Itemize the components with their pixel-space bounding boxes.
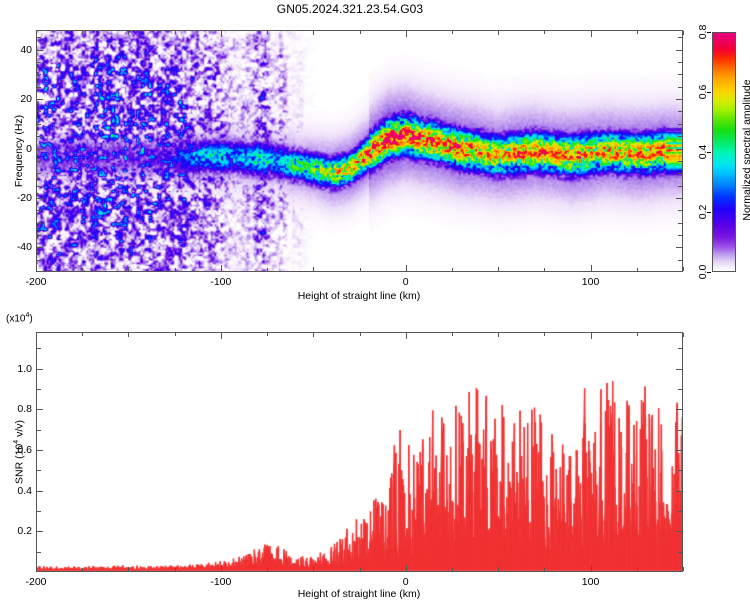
x-axis-minor-tick <box>267 568 268 571</box>
x-axis-minor-tick <box>267 268 268 271</box>
x-axis-tick-top <box>406 333 407 339</box>
y-axis-tick-label: 40 <box>6 44 32 56</box>
x-axis-tick <box>498 567 499 571</box>
x-axis-minor-tick <box>544 268 545 271</box>
y-axis-minor-tick <box>37 161 41 162</box>
colorbar-label: Normalized spectral amplitude <box>741 79 750 220</box>
y-axis-tick-right <box>676 409 682 410</box>
y-axis-minor-tick <box>37 235 41 236</box>
spectrogram-plot <box>36 30 683 272</box>
y-axis-minor-tick <box>37 186 41 187</box>
x-axis-minor-tick <box>175 268 176 271</box>
y-axis-tick <box>37 409 43 410</box>
x-axis-tick-label: -200 <box>25 276 46 288</box>
x-axis-tick <box>683 267 684 271</box>
y-axis-minor-tick <box>37 430 41 431</box>
y-axis-minor-tick <box>678 161 682 162</box>
y-axis-minor-tick <box>678 173 682 174</box>
y-axis-tick <box>37 198 43 199</box>
y-axis-tick-right <box>676 247 682 248</box>
y-axis-tick-label: -20 <box>6 192 32 204</box>
y-axis-minor-tick <box>678 210 682 211</box>
x-axis-minor-tick <box>175 333 176 336</box>
x-axis-minor-tick <box>360 268 361 271</box>
spectrogram-canvas <box>37 31 682 271</box>
x-axis-tick-top <box>591 333 592 339</box>
y-axis-tick-right <box>676 50 682 51</box>
x-axis-tick-label: -100 <box>210 276 231 288</box>
x-axis-tick-top <box>591 31 592 37</box>
y-axis-tick-right <box>676 491 682 492</box>
x-axis-minor-tick <box>452 268 453 271</box>
y-axis-minor-tick <box>678 186 682 187</box>
x-axis-tick-top <box>221 31 222 37</box>
x-axis-minor-tick <box>452 568 453 571</box>
y-axis-minor-tick <box>678 124 682 125</box>
x-axis-tick-top <box>683 31 684 35</box>
x-axis-tick <box>406 565 407 571</box>
x-axis-tick-label: 100 <box>582 576 600 588</box>
x-axis-minor-tick <box>267 333 268 336</box>
x-axis-tick <box>591 265 592 271</box>
y-axis-minor-tick <box>37 87 41 88</box>
snr-y-axis-label: SNR (104 v/v) <box>13 420 26 484</box>
x-axis-minor-tick <box>544 31 545 34</box>
y-axis-tick-label: 0.4 <box>6 485 32 497</box>
y-axis-minor-tick <box>678 235 682 236</box>
y-axis-tick-right <box>676 369 682 370</box>
y-axis-minor-tick <box>37 173 41 174</box>
y-axis-minor-tick <box>678 552 682 553</box>
figure-canvas: GN05.2024.321.23.54.G03 -200-10001004020… <box>0 0 750 600</box>
x-axis-tick-label: 0 <box>403 276 409 288</box>
y-axis-tick <box>37 450 43 451</box>
y-axis-minor-tick <box>678 74 682 75</box>
x-axis-minor-tick <box>544 568 545 571</box>
y-axis-minor-tick <box>678 136 682 137</box>
x-axis-tick <box>313 567 314 571</box>
x-axis-minor-tick <box>360 31 361 34</box>
y-axis-minor-tick <box>678 111 682 112</box>
x-axis-tick <box>128 267 129 271</box>
x-axis-tick-top <box>36 333 37 339</box>
x-axis-minor-tick <box>175 568 176 571</box>
spectrogram-y-axis-label: Frequency (Hz) <box>13 115 25 187</box>
page-title: GN05.2024.321.23.54.G03 <box>0 2 700 16</box>
y-axis-tick-right <box>676 450 682 451</box>
x-axis-tick <box>36 565 37 571</box>
y-axis-minor-tick <box>37 223 41 224</box>
x-axis-tick-label: 100 <box>582 276 600 288</box>
x-axis-tick <box>406 265 407 271</box>
x-axis-tick <box>221 265 222 271</box>
x-axis-tick-label: -200 <box>25 576 46 588</box>
y-axis-minor-tick <box>37 552 41 553</box>
y-axis-tick-label: 1.0 <box>6 363 32 375</box>
y-axis-tick-label: 20 <box>6 93 32 105</box>
spectrogram-x-axis-label: Height of straight line (km) <box>298 290 421 302</box>
colorbar-tick-label: 0.4 <box>697 145 709 160</box>
x-axis-minor-tick <box>544 333 545 336</box>
x-axis-minor-tick <box>452 333 453 336</box>
y-axis-tick <box>37 491 43 492</box>
y-axis-minor-tick <box>678 470 682 471</box>
y-axis-tick <box>37 369 43 370</box>
x-axis-tick-top <box>221 333 222 339</box>
snr-plot <box>36 332 683 572</box>
x-axis-minor-tick <box>82 31 83 34</box>
x-axis-tick-top <box>313 31 314 35</box>
colorbar-tick-label: 0.6 <box>697 85 709 100</box>
x-axis-tick <box>36 265 37 271</box>
x-axis-minor-tick <box>82 268 83 271</box>
y-axis-tick <box>37 99 43 100</box>
x-axis-minor-tick <box>175 31 176 34</box>
y-axis-minor-tick <box>37 74 41 75</box>
x-axis-minor-tick <box>360 333 361 336</box>
y-axis-minor-tick <box>678 87 682 88</box>
x-axis-tick <box>498 267 499 271</box>
x-axis-minor-tick <box>82 333 83 336</box>
y-axis-minor-tick <box>678 389 682 390</box>
x-axis-minor-tick <box>452 31 453 34</box>
x-axis-tick <box>683 567 684 571</box>
y-axis-minor-tick <box>37 111 41 112</box>
y-axis-minor-tick <box>678 62 682 63</box>
y-axis-minor-tick <box>37 389 41 390</box>
x-axis-minor-tick <box>82 568 83 571</box>
x-axis-tick <box>591 565 592 571</box>
y-axis-minor-tick <box>678 430 682 431</box>
x-axis-minor-tick <box>637 333 638 336</box>
x-axis-tick-label: 0 <box>403 576 409 588</box>
y-axis-tick-right <box>676 531 682 532</box>
snr-trace-image <box>37 333 682 571</box>
snr-x-axis-label: Height of straight line (km) <box>298 588 421 600</box>
y-axis-tick-label: -40 <box>6 241 32 253</box>
y-axis-tick <box>37 247 43 248</box>
x-axis-tick <box>128 567 129 571</box>
x-axis-minor-tick <box>637 31 638 34</box>
colorbar-tick-label: 0.8 <box>697 25 709 40</box>
x-axis-tick-top <box>498 31 499 35</box>
y-axis-tick <box>37 149 43 150</box>
x-axis-tick <box>313 267 314 271</box>
x-axis-minor-tick <box>267 31 268 34</box>
x-axis-tick-top <box>128 333 129 337</box>
y-axis-minor-tick <box>37 348 41 349</box>
y-axis-minor-tick <box>678 260 682 261</box>
y-axis-tick <box>37 50 43 51</box>
x-axis-tick-top <box>498 333 499 337</box>
y-axis-minor-tick <box>678 348 682 349</box>
y-axis-minor-tick <box>37 124 41 125</box>
snr-canvas <box>37 333 682 571</box>
y-axis-minor-tick <box>678 37 682 38</box>
x-axis-tick-top <box>313 333 314 337</box>
y-axis-minor-tick <box>37 210 41 211</box>
y-axis-minor-tick <box>37 37 41 38</box>
y-axis-minor-tick <box>37 62 41 63</box>
y-axis-minor-tick <box>37 136 41 137</box>
x-axis-minor-tick <box>637 268 638 271</box>
colorbar-tick-label: 0.0 <box>697 265 709 280</box>
x-axis-tick <box>221 565 222 571</box>
y-axis-tick-label: 0.8 <box>6 403 32 415</box>
colorbar <box>712 32 736 272</box>
x-axis-minor-tick <box>360 568 361 571</box>
x-axis-tick-top <box>128 31 129 35</box>
y-axis-minor-tick <box>37 260 41 261</box>
y-axis-tick-right <box>676 149 682 150</box>
x-axis-tick-label: -100 <box>210 576 231 588</box>
y-axis-tick-right <box>676 99 682 100</box>
y-axis-tick-right <box>676 198 682 199</box>
y-axis-minor-tick <box>37 470 41 471</box>
y-axis-minor-tick <box>37 511 41 512</box>
colorbar-tick-label: 0.2 <box>697 205 709 220</box>
y-axis-tick-label: 0.2 <box>6 525 32 537</box>
y-axis-minor-tick <box>678 511 682 512</box>
snr-exponent-label: (x104) <box>6 312 33 324</box>
y-axis-tick <box>37 531 43 532</box>
y-axis-minor-tick <box>678 223 682 224</box>
x-axis-tick-top <box>406 31 407 37</box>
x-axis-tick-top <box>683 333 684 337</box>
x-axis-minor-tick <box>637 568 638 571</box>
spectrogram-image <box>37 31 682 271</box>
